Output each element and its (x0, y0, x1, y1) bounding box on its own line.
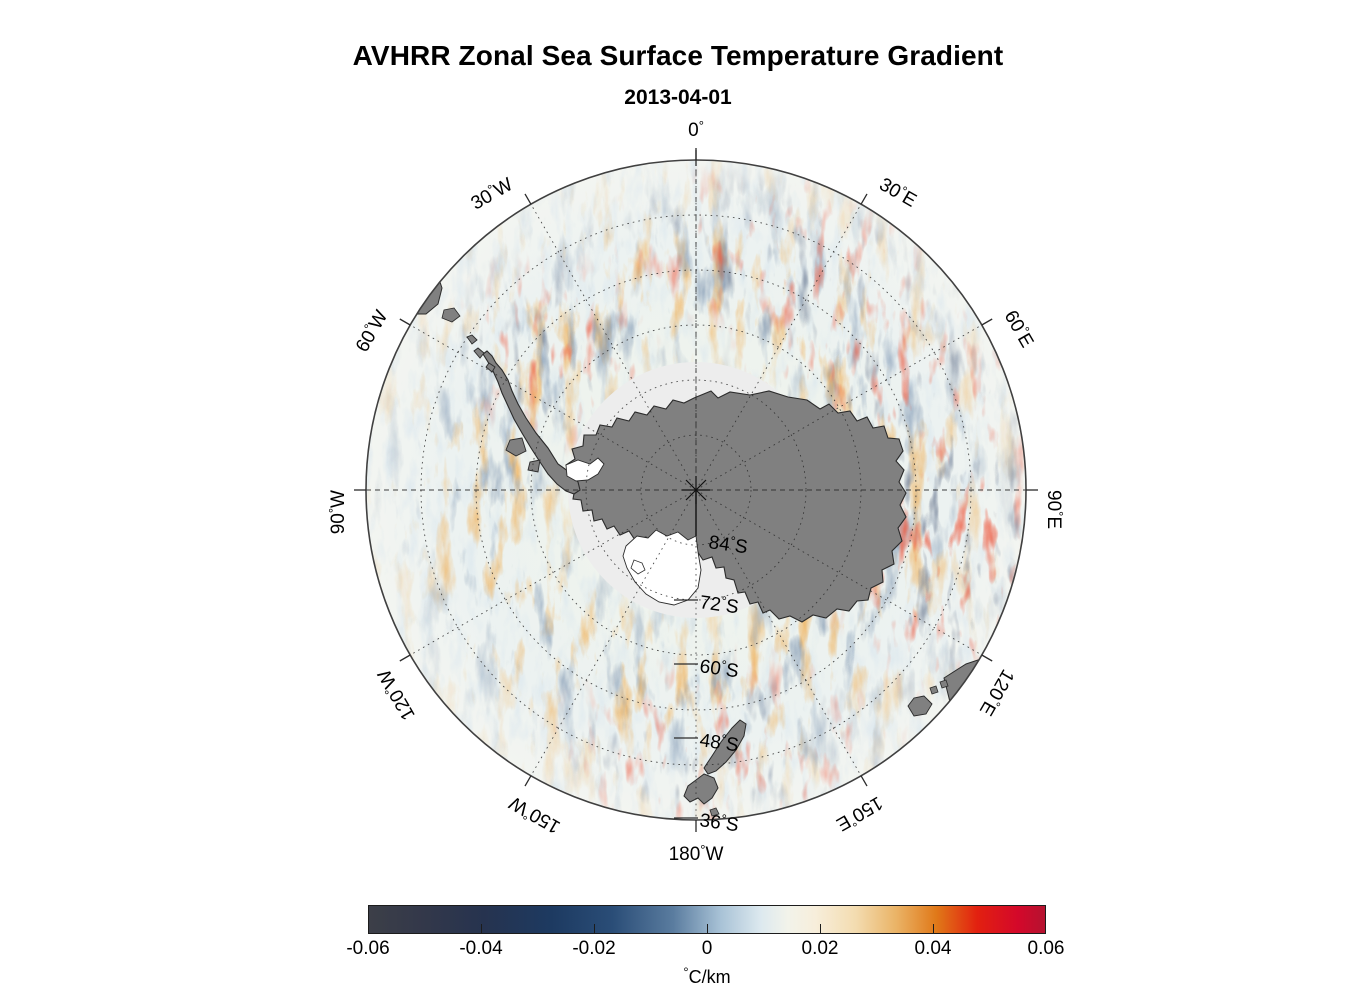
south-america-tip (326, 152, 442, 314)
colorbar-tick (933, 924, 934, 934)
figure-subtitle: 2013-04-01 (0, 86, 1356, 110)
colorbar-tick (707, 924, 708, 934)
lon-label-120E: 120°E (975, 666, 1020, 720)
lon-label-60W: 60°W (350, 306, 392, 356)
colorbar-tick-label: 0 (702, 938, 713, 960)
lon-label-180W: 180°W (669, 842, 724, 865)
lon-label-90W: 90°W (326, 490, 349, 534)
lon-label-90E: 90°E (1043, 490, 1066, 529)
lon-label-30W: 30°W (467, 172, 517, 214)
colorbar-tick-label: -0.06 (346, 938, 389, 960)
colorbar-tick-label: -0.02 (572, 938, 615, 960)
lon-label-120W: 120°W (372, 665, 419, 724)
colorbar-tick-label: 0.06 (1028, 938, 1065, 960)
lon-label-0: 0° (688, 118, 704, 141)
colorbar-tick-label: 0.04 (915, 938, 952, 960)
colorbar-tick (820, 924, 821, 934)
lon-label-150E: 150°E (833, 792, 887, 837)
page-title: AVHRR Zonal Sea Surface Temperature Grad… (0, 40, 1356, 72)
colorbar-unit-label: °C/km (368, 967, 1046, 988)
lon-label-60E: 60°E (1000, 306, 1039, 351)
lon-label-150W: 150°W (505, 792, 564, 839)
polar-stereographic-map[interactable]: 0° 30°E 60°E 90°E 120°E 150°E 180°W 150°… (326, 108, 1066, 898)
colorbar-tick-label: 0.02 (802, 938, 839, 960)
lon-label-30E: 30°E (876, 172, 921, 211)
colorbar-tick (481, 924, 482, 934)
colorbar-tick (594, 924, 595, 934)
colorbar: -0.06-0.04-0.0200.020.040.06 °C/km (368, 905, 1046, 995)
colorbar-tick-label: -0.04 (459, 938, 502, 960)
polar-map-panel: 0° 30°E 60°E 90°E 120°E 150°E 180°W 150°… (326, 108, 1066, 898)
south-africa-coast (826, 142, 912, 184)
